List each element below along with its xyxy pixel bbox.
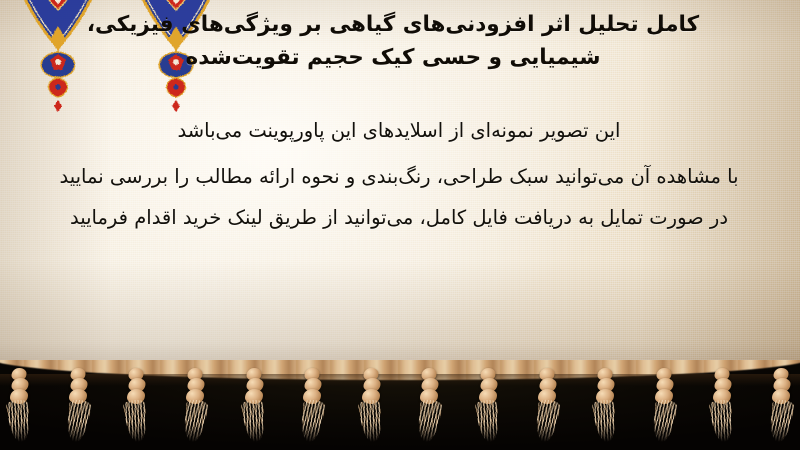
tassel-brush (416, 399, 444, 444)
carpet-field-background (0, 0, 800, 372)
canvas-shading-overlay (0, 0, 800, 372)
weave-texture (0, 0, 800, 372)
tassel-brush (709, 399, 736, 443)
fringe-tassel (590, 366, 620, 446)
tassel-brush (767, 399, 795, 444)
tassel-brush (181, 399, 209, 444)
tassel-brush (64, 399, 92, 444)
slide-canvas: کامل تحلیل اثر افزودنی‌های گیاهی بر ویژگ… (0, 0, 800, 450)
tassel-brush (474, 399, 501, 443)
fringe-tassel (180, 366, 210, 446)
fringe-tassel (532, 366, 562, 446)
tassel-row (0, 366, 800, 450)
fringe-tassel (473, 366, 503, 446)
tassel-brush (123, 399, 150, 443)
tassel-brush (650, 399, 678, 444)
fringe-tassel (356, 366, 386, 446)
fringe-tassel (766, 366, 796, 446)
fringe-tassel (4, 366, 34, 446)
fringe-tassel (414, 366, 444, 446)
tassel-brush (357, 399, 384, 443)
tassel-brush (592, 399, 619, 443)
tassel-brush (240, 399, 267, 443)
fringe-tassel (239, 366, 269, 446)
tassel-brush (533, 399, 561, 444)
fringe-tassel (297, 366, 327, 446)
fringe-tassel (707, 366, 737, 446)
fringe-tassel (649, 366, 679, 446)
tassel-brush (6, 399, 33, 443)
tassel-brush (298, 399, 326, 444)
fringe-tassel (121, 366, 151, 446)
carpet-fringe-band (0, 360, 800, 450)
fringe-tassel (63, 366, 93, 446)
